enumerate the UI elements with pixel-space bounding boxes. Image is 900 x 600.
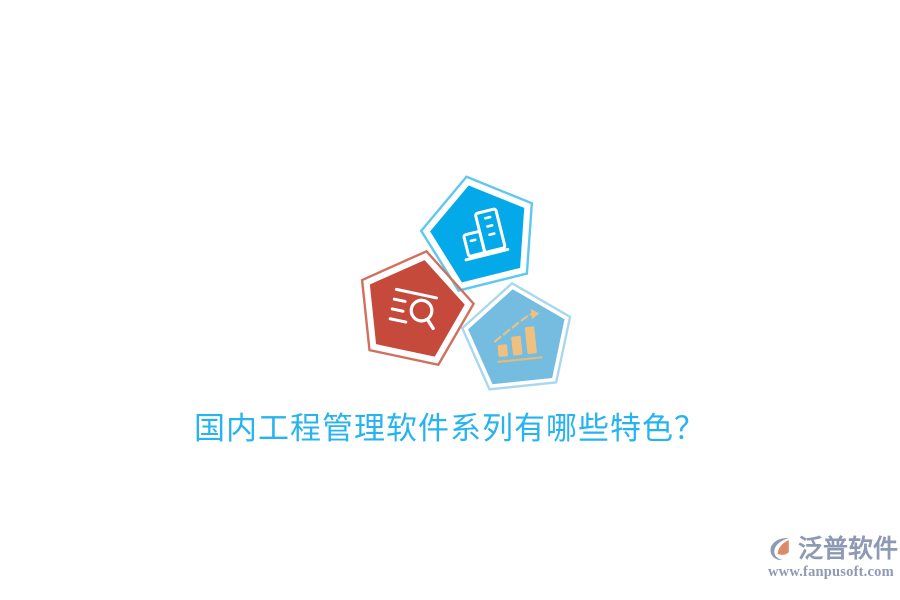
page-canvas: 国内工程管理软件系列有哪些特色？ 泛普软件 www.fanpusoft.com [0, 0, 900, 600]
fanpu-logo-icon [766, 534, 796, 564]
watermark-logo: 泛普软件 www.fanpusoft.com [766, 532, 896, 588]
watermark-url: www.fanpusoft.com [766, 564, 896, 581]
watermark-brand-row: 泛普软件 [766, 532, 896, 566]
watermark-brand-name: 泛普软件 [798, 535, 898, 563]
pentagon-cluster-graphic [348, 172, 594, 392]
pentagon-chart [458, 278, 577, 392]
page-title: 国内工程管理软件系列有哪些特色？ [0, 406, 900, 452]
